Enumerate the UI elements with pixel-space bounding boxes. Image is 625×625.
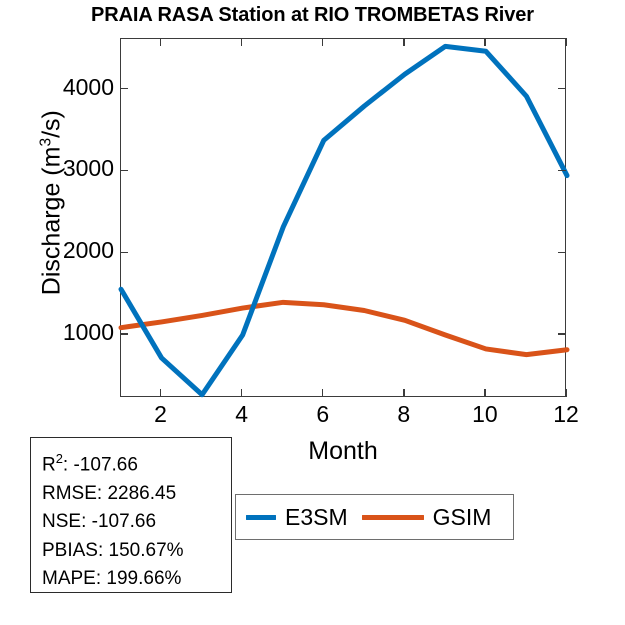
y-axis-tick [120, 252, 128, 253]
x-axis-tick-label: 4 [235, 401, 248, 428]
stat-r2-label: R [42, 454, 56, 475]
y-axis-label-exponent: 3 [37, 138, 54, 147]
series-line-gsim [121, 302, 567, 354]
x-axis-tick-label: 12 [553, 401, 579, 428]
x-axis-tick [565, 389, 566, 397]
x-axis-tick [241, 38, 242, 46]
legend-entry-gsim[interactable]: GSIM [348, 495, 492, 539]
chart-title: PRAIA RASA Station at RIO TROMBETAS Rive… [0, 4, 625, 27]
x-axis-tick-label: 6 [316, 401, 329, 428]
x-axis-tick [565, 38, 566, 46]
stat-nse: NSE: -107.66 [42, 508, 231, 537]
y-axis-tick [120, 88, 128, 89]
y-axis-tick [120, 170, 128, 171]
legend-swatch-gsim [362, 515, 424, 520]
y-axis-tick [558, 170, 566, 171]
x-axis-tick [160, 38, 161, 46]
stat-r2-exponent: 2 [56, 451, 63, 466]
series-line-e3sm [121, 46, 567, 394]
legend-swatch-e3sm [246, 515, 276, 520]
plot-svg [121, 39, 567, 398]
x-axis-tick [322, 389, 323, 397]
stat-r2-value: : -107.66 [63, 454, 138, 475]
stat-mape: MAPE: 199.66% [42, 565, 231, 594]
y-axis-tick [120, 333, 128, 334]
stat-r2: R2: -107.66 [42, 445, 231, 480]
x-axis-tick [160, 389, 161, 397]
chart-legend: E3SM GSIM [235, 494, 514, 540]
y-axis-label: Discharge (m3/s) [37, 23, 66, 383]
plot-area [120, 38, 566, 397]
y-axis-tick [558, 333, 566, 334]
x-axis-tick-label: 2 [154, 401, 167, 428]
x-axis-tick [484, 389, 485, 397]
y-axis-label-suffix: /s) [38, 110, 66, 138]
x-axis-tick [241, 389, 242, 397]
x-axis-tick [403, 38, 404, 46]
y-axis-label-prefix: Discharge (m [38, 147, 66, 296]
statistics-box: R2: -107.66 RMSE: 2286.45 NSE: -107.66 P… [30, 437, 232, 593]
stat-rmse: RMSE: 2286.45 [42, 480, 231, 509]
x-axis-tick-label: 10 [472, 401, 498, 428]
x-axis-tick [322, 38, 323, 46]
x-axis-tick [403, 389, 404, 397]
x-axis-tick [484, 38, 485, 46]
legend-label-gsim: GSIM [433, 504, 492, 531]
chart-figure: PRAIA RASA Station at RIO TROMBETAS Rive… [0, 0, 625, 625]
y-axis-tick [558, 88, 566, 89]
legend-label-e3sm: E3SM [285, 504, 348, 531]
legend-entry-e3sm[interactable]: E3SM [236, 495, 348, 539]
y-axis-tick [558, 252, 566, 253]
x-axis-tick-label: 8 [397, 401, 410, 428]
stat-pbias: PBIAS: 150.67% [42, 537, 231, 566]
